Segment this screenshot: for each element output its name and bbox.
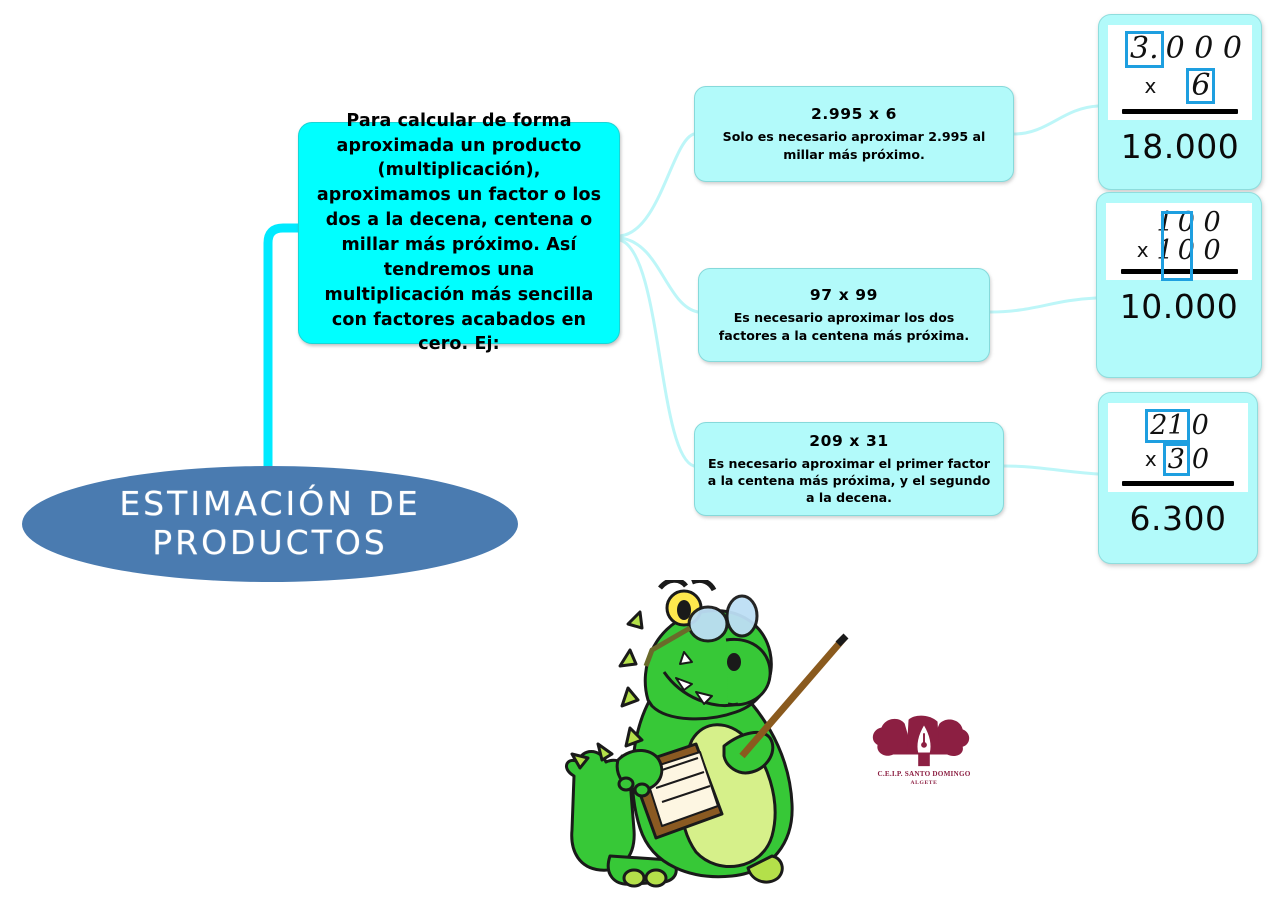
highlight-box-multiplier-1: 6 xyxy=(1186,68,1215,105)
tree-canopy-left xyxy=(873,719,909,756)
result-card-2: x 1 0 0 x 1 0 0 10.000 xyxy=(1096,192,1262,378)
main-definition-text: Para calcular de forma aproximada un pro… xyxy=(315,109,603,357)
calc-row-multiplier-1: x 6 xyxy=(1116,68,1244,105)
highlight-box-multiplicand-3: 21 xyxy=(1145,409,1189,443)
calc-rule-2 xyxy=(1121,269,1238,274)
calc-row-multiplicand-1: 3. 0 0 0 xyxy=(1116,31,1244,68)
calc-row-multiplicand-2: x 1 0 0 xyxy=(1135,209,1222,237)
calc-rule-3 xyxy=(1122,481,1234,486)
branch-box-3: 209 x 31 Es necesario aproximar el prime… xyxy=(694,422,1004,516)
highlight-box-multiplier-3: 3 xyxy=(1163,443,1190,477)
connector-main-to-title xyxy=(268,228,298,478)
finger-2 xyxy=(635,784,649,796)
calc-row-multiplier-3: x 3 0 xyxy=(1116,443,1240,477)
branch-box-2: 97 x 99 Es necesario aproximar los dos f… xyxy=(698,268,990,362)
pointer-tip xyxy=(838,636,846,644)
finger-1 xyxy=(619,778,633,790)
result-total-1: 18.000 xyxy=(1121,127,1239,166)
logo-school-name: C.E.I.P. SANTO DOMINGO xyxy=(862,770,986,778)
operator-1: x xyxy=(1145,74,1157,98)
connector-branch-2-to-result-2 xyxy=(990,298,1096,312)
calc-rule-1 xyxy=(1122,109,1237,114)
glasses-lens-right xyxy=(727,596,757,636)
toe-2 xyxy=(646,870,666,886)
connector-main-to-branch-3 xyxy=(620,240,694,466)
result-total-2: 10.000 xyxy=(1120,287,1238,326)
glasses-lens-left xyxy=(689,607,727,641)
calculation-panel-3: 21 0 x 3 0 xyxy=(1108,403,1248,492)
connector-main-to-branch-1 xyxy=(620,134,694,236)
result-card-3: 21 0 x 3 0 6.300 xyxy=(1098,392,1258,564)
highlight-box-multiplicand-1: 3. xyxy=(1125,31,1164,68)
dragon-pupil xyxy=(677,600,691,620)
tail-spike-2 xyxy=(598,744,612,760)
dragon-eyebrow-left xyxy=(660,580,686,588)
dragon-nostril xyxy=(727,653,741,671)
connector-main-to-branch-2 xyxy=(620,238,698,312)
title-oval: ESTIMACIÓN DE PRODUCTOS xyxy=(22,466,518,582)
head-spike-1 xyxy=(628,612,642,628)
logo-mark xyxy=(862,712,986,770)
branch-3-body: Es necesario aproximar el primer factor … xyxy=(707,455,991,506)
pen-nib-hole xyxy=(921,742,927,748)
calculation-panel-2: x 1 0 0 x 1 0 0 xyxy=(1106,203,1252,280)
toe-1 xyxy=(624,870,644,886)
back-spike-1 xyxy=(622,688,638,706)
operator-2: x xyxy=(1137,238,1149,262)
branch-1-heading: 2.995 x 6 xyxy=(811,105,897,123)
connector-branch-3-to-result-3 xyxy=(1004,466,1098,474)
multiplicand-highlight-digit-2: 1 xyxy=(1155,209,1176,237)
page-title-line-1: ESTIMACIÓN DE xyxy=(119,485,420,524)
multiplicand-rest-1: 0 0 0 xyxy=(1164,34,1244,65)
logo-town-name: ALGETE xyxy=(862,780,986,786)
branch-box-1: 2.995 x 6 Solo es necesario aproximar 2.… xyxy=(694,86,1014,182)
school-logo: C.E.I.P. SANTO DOMINGO ALGETE xyxy=(862,712,986,798)
multiplier-rest-2: 0 0 xyxy=(1176,237,1223,265)
branch-1-body: Solo es necesario aproximar 2.995 al mil… xyxy=(707,128,1001,162)
operator-3: x xyxy=(1145,447,1157,471)
branch-3-heading: 209 x 31 xyxy=(809,432,889,450)
calculation-panel-1: 3. 0 0 0 x 6 xyxy=(1108,25,1252,120)
multiplicand-rest-2: 0 0 xyxy=(1176,209,1223,237)
calc-row-multiplier-2: x 1 0 0 xyxy=(1135,237,1222,265)
branch-2-body: Es necesario aproximar los dos factores … xyxy=(711,309,977,343)
multiplier-highlight-digit-2: 1 xyxy=(1155,237,1176,265)
mindmap-canvas: ESTIMACIÓN DE PRODUCTOS Para calcular de… xyxy=(0,0,1288,924)
dragon-teacher-mascot xyxy=(556,580,856,898)
page-title-line-2: PRODUCTOS xyxy=(119,524,420,563)
branch-2-heading: 97 x 99 xyxy=(810,286,878,304)
dragon-eyebrow-right xyxy=(692,580,714,590)
connector-branch-1-to-result-1 xyxy=(1014,106,1098,134)
main-definition-box: Para calcular de forma aproximada un pro… xyxy=(298,122,620,344)
multiplicand-rest-3: 0 xyxy=(1190,412,1211,440)
calc-row-multiplicand-3: 21 0 xyxy=(1116,409,1240,443)
page-title: ESTIMACIÓN DE PRODUCTOS xyxy=(119,485,420,563)
result-card-1: 3. 0 0 0 x 6 18.000 xyxy=(1098,14,1262,190)
tree-trunk xyxy=(918,753,930,767)
multiplier-rest-3: 0 xyxy=(1190,446,1211,474)
result-total-3: 6.300 xyxy=(1130,499,1227,538)
head-spike-2 xyxy=(620,650,636,666)
